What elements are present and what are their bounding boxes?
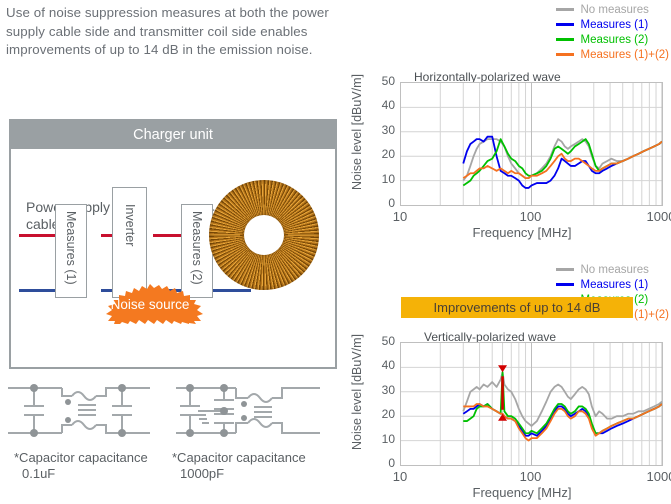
series-line-2: [463, 372, 662, 433]
legend-swatch-icon: [556, 268, 574, 271]
improvement-banner: Improvements of up to 14 dB: [401, 297, 633, 318]
y-tick-label: 0: [373, 196, 395, 210]
charger-unit-title: Charger unit: [11, 121, 335, 149]
y-axis-label-bottom: Noise level [dBuV/m]: [350, 334, 364, 450]
x-tick-label: 10: [378, 469, 422, 484]
x-axis-label-bottom: Frequency [MHz]: [382, 485, 662, 500]
circuit-2-caption-line1: *Capacitor capacitance: [172, 450, 306, 466]
legend-label: No measures: [580, 4, 648, 16]
intro-paragraph: Use of noise suppression measures at bot…: [6, 4, 336, 60]
circuit-2-caption: *Capacitor capacitance 1000pF: [172, 450, 306, 482]
x-tick-label: 1000: [639, 209, 671, 224]
inverter-label: Inverter: [123, 204, 137, 246]
legend-label: Measures (1)+(2): [580, 49, 669, 61]
plot-svg: [401, 343, 662, 465]
circuit-2-caption-line2: 1000pF: [172, 466, 306, 482]
x-tick-label: 1000: [639, 469, 671, 484]
legend-item-3: Measures (1)+(2): [556, 47, 669, 62]
legend-swatch-icon: [556, 38, 574, 41]
charger-unit-body: Power supply cable Transmitter coil Meas…: [11, 149, 335, 369]
charger-unit-diagram: Charger unit Power supply cable Transmit…: [9, 119, 337, 369]
y-tick-label: 10: [373, 172, 395, 186]
series-line-3: [463, 404, 662, 441]
measures-1-box: Measures (1): [55, 204, 87, 298]
wire-blue-seg4: [213, 289, 251, 292]
y-tick-label: 50: [373, 74, 395, 88]
circuit-1-caption-line2: 0.1uF: [14, 466, 148, 482]
y-tick-label: 40: [373, 98, 395, 112]
x-tick-label: 10: [378, 209, 422, 224]
plot-area-top: [400, 82, 663, 206]
legend-label: No measures: [580, 264, 648, 276]
circuit-diagrams: *Capacitor capacitance 0.1uF *Capacitor …: [0, 378, 345, 498]
y-tick-label: 50: [373, 334, 395, 348]
measures-1-label: Measures (1): [64, 211, 78, 285]
legend-swatch-icon: [556, 283, 574, 286]
inverter-box: Inverter: [112, 187, 147, 298]
legend-item-1: Measures (1): [556, 17, 669, 32]
legend-label: Measures (1): [580, 279, 648, 291]
transmitter-coil-icon: [209, 180, 319, 290]
legend-label: Measures (2): [580, 34, 648, 46]
series-line-2: [463, 139, 662, 185]
legend-item-1: Measures (1): [556, 277, 669, 292]
y-tick-label: 0: [373, 456, 395, 470]
y-tick-label: 40: [373, 358, 395, 372]
y-axis-label-top: Noise level [dBuV/m]: [350, 74, 364, 190]
chart-vertically-polarized: No measuresMeasures (1)Measures (2)Measu…: [352, 262, 671, 504]
legend-swatch-icon: [556, 8, 574, 11]
legend-item-0: No measures: [556, 262, 669, 277]
legend-top: No measuresMeasures (1)Measures (2)Measu…: [556, 2, 669, 62]
noise-source-burst: Noise source: [91, 284, 209, 324]
x-tick-label: 100: [509, 469, 553, 484]
plot-svg: [401, 83, 662, 205]
circuit-schematics-icon: [0, 378, 345, 448]
x-axis-label-top: Frequency [MHz]: [382, 225, 662, 240]
noise-source-label: Noise source: [91, 284, 209, 324]
y-tick-label: 30: [373, 123, 395, 137]
y-tick-label: 20: [373, 407, 395, 421]
x-tick-label: 100: [509, 209, 553, 224]
legend-label: Measures (1): [580, 19, 648, 31]
circuit-1-caption: *Capacitor capacitance 0.1uF: [14, 450, 148, 482]
legend-swatch-icon: [556, 23, 574, 26]
legend-item-2: Measures (2): [556, 32, 669, 47]
circuit-1-caption-line1: *Capacitor capacitance: [14, 450, 148, 466]
y-tick-label: 10: [373, 432, 395, 446]
measures-2-label: Measures (2): [190, 211, 204, 285]
plot-area-bottom: [400, 342, 663, 466]
y-tick-label: 20: [373, 147, 395, 161]
legend-swatch-icon: [556, 53, 574, 56]
y-tick-label: 30: [373, 383, 395, 397]
legend-item-0: No measures: [556, 2, 669, 17]
chart-horizontally-polarized: No measuresMeasures (1)Measures (2)Measu…: [352, 2, 671, 252]
